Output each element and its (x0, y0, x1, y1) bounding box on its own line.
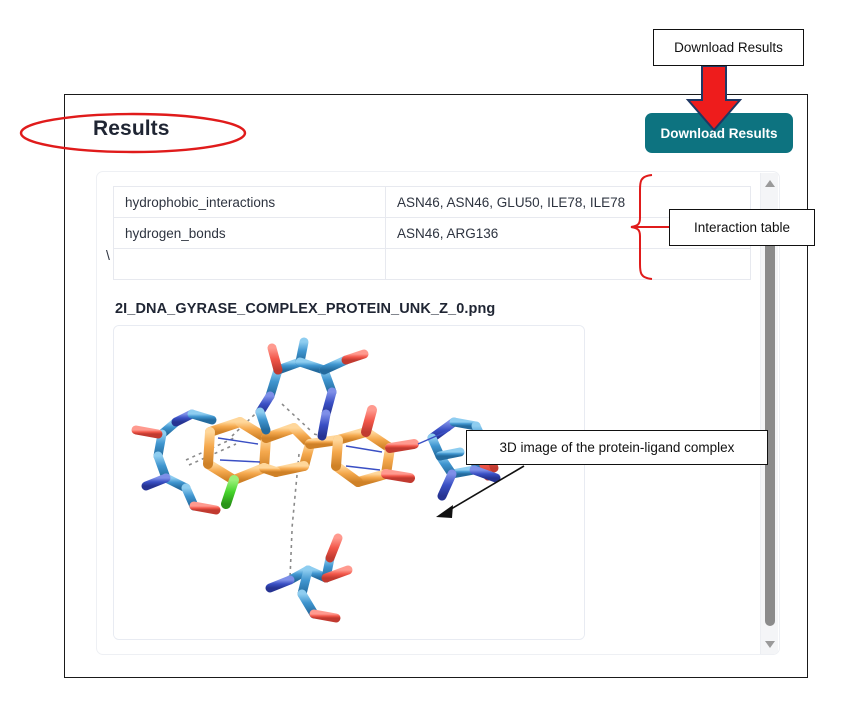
molecule-render: .lig { stroke: url(#gL); stroke-linecap:… (114, 326, 585, 640)
table-cell-key: hydrogen_bonds (114, 218, 386, 249)
table-cell-value (386, 249, 751, 280)
table-row[interactable]: hydrophobic_interactions ASN46, ASN46, G… (114, 187, 751, 218)
table-cell-key: hydrophobic_interactions (114, 187, 386, 218)
stray-backslash-text: \ (106, 248, 110, 262)
page-title: Results (93, 117, 170, 141)
table-row[interactable] (114, 249, 751, 280)
scroll-down-arrow[interactable] (761, 636, 779, 653)
annotation-interaction-table: Interaction table (669, 209, 815, 246)
scroll-up-arrow[interactable] (761, 175, 779, 192)
interaction-table-wrapper: hydrophobic_interactions ASN46, ASN46, G… (113, 186, 741, 280)
results-window: Results Download Results hydrophobic_int… (64, 94, 808, 678)
protein-ligand-image: .lig { stroke: url(#gL); stroke-linecap:… (113, 325, 585, 640)
download-results-button[interactable]: Download Results (645, 113, 793, 153)
results-card-content: hydrophobic_interactions ASN46, ASN46, G… (97, 172, 757, 654)
table-row[interactable]: hydrogen_bonds ASN46, ARG136 (114, 218, 751, 249)
screenshot-stage: Results Download Results hydrophobic_int… (0, 0, 867, 716)
annotation-3d-image: 3D image of the protein-ligand complex (466, 430, 768, 465)
table-cell-key (114, 249, 386, 280)
interaction-table: hydrophobic_interactions ASN46, ASN46, G… (113, 186, 751, 280)
annotation-download-results: Download Results (653, 29, 804, 66)
image-filename-label: 2I_DNA_GYRASE_COMPLEX_PROTEIN_UNK_Z_0.pn… (115, 301, 741, 317)
